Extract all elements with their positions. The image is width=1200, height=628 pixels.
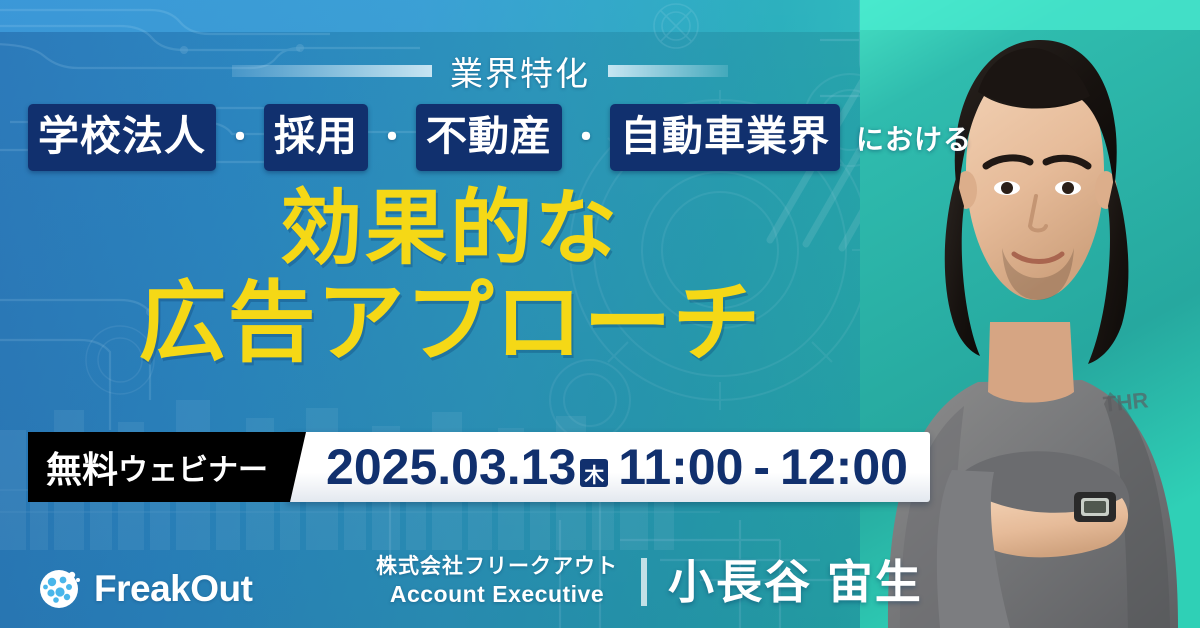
headline-block: 効果的な 広告アプローチ	[0, 186, 900, 370]
webinar-banner: THR 業界特化 学校法人 ・ 採用 ・ 不動産 ・ 自動車業界 における 効果…	[0, 0, 1200, 628]
badge-separator-2: ・	[374, 121, 410, 155]
headline-line-2: 広告アプローチ	[0, 275, 900, 370]
badge-separator-1: ・	[222, 121, 258, 155]
eyebrow-row: 業界特化	[0, 48, 960, 94]
industry-badge-4: 自動車業界	[610, 104, 840, 171]
company-name: 株式会社フリークアウト	[372, 554, 622, 580]
day-of-week-badge: 木	[580, 459, 608, 487]
time-separator: -	[743, 438, 780, 496]
event-time-start: 11:00	[618, 438, 743, 496]
free-tag-main: 無料	[46, 441, 118, 493]
event-date: 2025.03.13	[326, 438, 576, 496]
industry-badge-1: 学校法人	[28, 104, 216, 171]
company-role: Account Executive	[372, 580, 622, 610]
badge-separator-3: ・	[568, 121, 604, 155]
company-info: 株式会社フリークアウト Account Executive	[372, 554, 622, 610]
industry-badge-row: 学校法人 ・ 採用 ・ 不動産 ・ 自動車業界 における	[28, 104, 972, 171]
footer-divider	[641, 558, 647, 606]
free-webinar-tag: 無料 ウェビナー	[28, 432, 290, 502]
free-tag-sub: ウェビナー	[118, 445, 268, 489]
speaker-portrait-photo: THR	[860, 0, 1200, 628]
freakout-logo-text: FreakOut	[94, 568, 252, 610]
eyebrow-rule-left	[232, 65, 432, 77]
event-time-end: 12:00	[780, 438, 908, 496]
eyebrow-text: 業界特化	[450, 47, 590, 95]
freakout-logo: FreakOut	[36, 566, 252, 612]
footer-bar: FreakOut 株式会社フリークアウト Account Executive 小…	[0, 548, 1200, 628]
eyebrow-rule-right	[608, 65, 728, 77]
speaker-name: 小長谷 宙生	[668, 546, 923, 612]
date-strip: 無料 ウェビナー 2025.03.13 木 11:00 - 12:00	[28, 432, 930, 502]
headline-line-1: 効果的な	[0, 186, 900, 273]
badge-suffix-text: における	[856, 118, 972, 158]
industry-badge-2: 採用	[264, 104, 368, 171]
industry-badge-3: 不動産	[416, 104, 562, 171]
date-time-box: 2025.03.13 木 11:00 - 12:00	[286, 432, 930, 502]
svg-text:THR: THR	[1102, 387, 1150, 417]
freakout-dot-cluster-icon	[36, 566, 82, 612]
